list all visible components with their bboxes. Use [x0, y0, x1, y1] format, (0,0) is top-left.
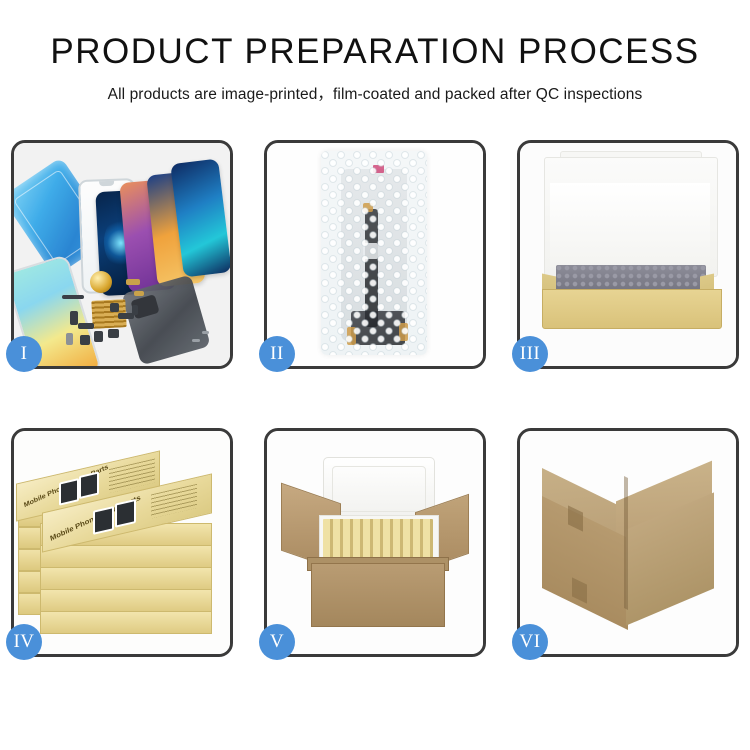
step-panel-3[interactable]: III	[517, 140, 739, 369]
step-panel-6[interactable]: VI	[517, 428, 739, 657]
white-foam-sheet	[550, 183, 710, 267]
bubble-wrap-pouch	[321, 151, 427, 355]
bubble-texture	[321, 151, 427, 355]
step-image-2	[267, 143, 483, 366]
step-image-6	[520, 431, 736, 654]
step-image-4: Mobile Phone Spare Parts Mobile Phone Sp…	[14, 431, 230, 654]
page-root: PRODUCT PREPARATION PROCESS All products…	[0, 0, 750, 750]
step-badge-2: II	[259, 336, 295, 372]
box-front-5	[40, 611, 212, 634]
step-badge-1: I	[6, 336, 42, 372]
step-badge-6: VI	[512, 624, 548, 660]
step-image-3	[520, 143, 736, 366]
step-image-1	[14, 143, 230, 366]
step-panel-2[interactable]: II	[264, 140, 486, 369]
box-front-4	[40, 589, 212, 612]
page-subtitle: All products are image-printed，film-coat…	[0, 82, 750, 104]
box-front-2	[40, 545, 212, 568]
carton-body	[311, 563, 445, 627]
step-badge-5: V	[259, 624, 295, 660]
step-image-5	[267, 431, 483, 654]
header: PRODUCT PREPARATION PROCESS All products…	[0, 0, 750, 104]
process-steps-grid: I II	[11, 140, 739, 657]
box-front-3	[40, 567, 212, 590]
step-panel-5[interactable]: V	[264, 428, 486, 657]
step-badge-4: IV	[6, 624, 42, 660]
small-spare-parts	[14, 143, 230, 366]
step-badge-3: III	[512, 336, 548, 372]
kraft-box-front	[542, 289, 722, 329]
page-title: PRODUCT PREPARATION PROCESS	[0, 34, 750, 69]
step-panel-1[interactable]: I	[11, 140, 233, 369]
step-panel-4[interactable]: Mobile Phone Spare Parts Mobile Phone Sp…	[11, 428, 233, 657]
carton-vertical-seam	[624, 476, 628, 610]
